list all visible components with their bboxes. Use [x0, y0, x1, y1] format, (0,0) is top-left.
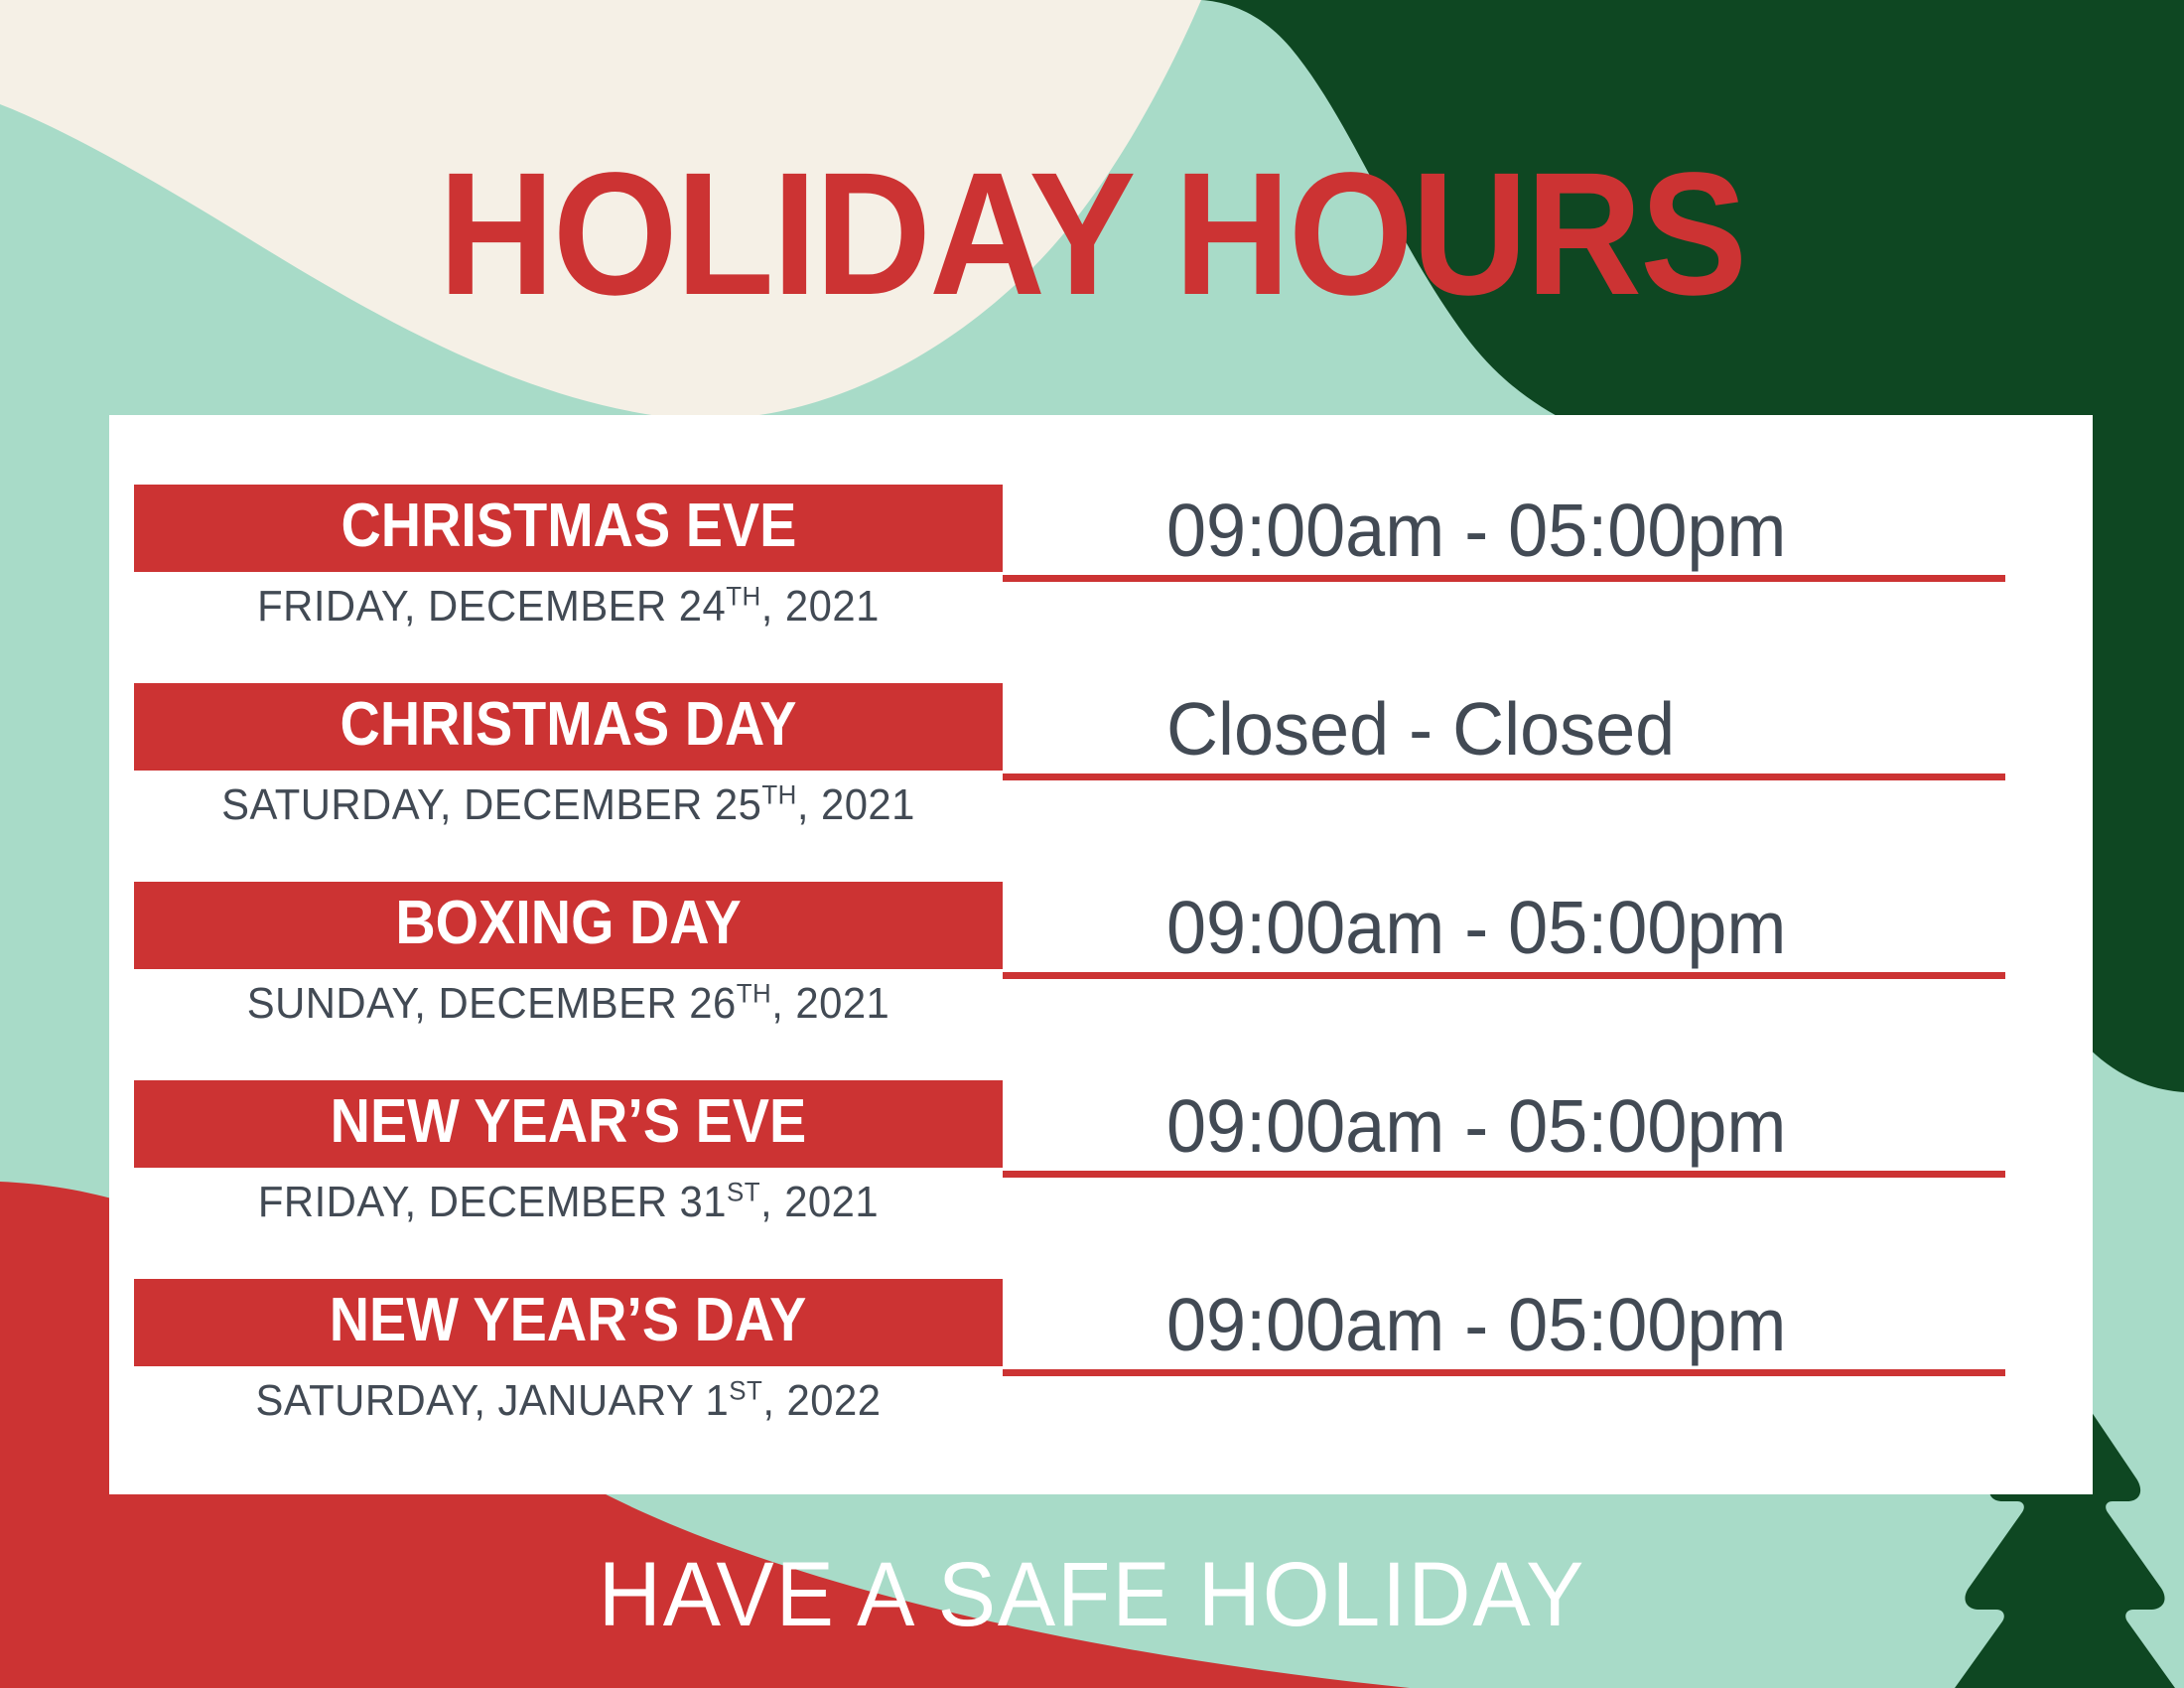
- holiday-name-bar: NEW YEAR’S EVE: [134, 1080, 1003, 1168]
- holiday-hours: 09:00am - 05:00pm: [1166, 493, 1786, 568]
- schedule-row: NEW YEAR’S DAY SATURDAY, JANUARY 1ST, 20…: [109, 1267, 2093, 1466]
- holiday-date-prefix: SUNDAY, DECEMBER 26: [247, 979, 737, 1028]
- holiday-name: NEW YEAR’S EVE: [331, 1091, 807, 1153]
- holiday-name-bar: CHRISTMAS EVE: [134, 485, 1003, 572]
- holiday-date-ordinal: ST: [727, 1176, 760, 1206]
- holiday-hours-block: 09:00am - 05:00pm: [1003, 1267, 2005, 1376]
- holiday-name: CHRISTMAS EVE: [341, 495, 796, 557]
- holiday-hours-poster: HOLIDAY HOURS CHRISTMAS EVE FRIDAY, DECE…: [0, 0, 2184, 1688]
- page-title: HOLIDAY HOURS: [87, 147, 2097, 322]
- holiday-date-suffix: , 2021: [760, 1178, 879, 1226]
- holiday-date-ordinal: ST: [729, 1374, 762, 1405]
- holiday-date-suffix: , 2021: [797, 780, 915, 829]
- schedule-row: CHRISTMAS DAY SATURDAY, DECEMBER 25TH, 2…: [109, 671, 2093, 870]
- hours-underline: [1003, 1369, 2005, 1376]
- holiday-name-bar: NEW YEAR’S DAY: [134, 1279, 1003, 1366]
- holiday-date-suffix: , 2022: [762, 1376, 881, 1425]
- holiday-hours-block: 09:00am - 05:00pm: [1003, 870, 2005, 979]
- hours-underline: [1003, 1171, 2005, 1178]
- holiday-hours-block: Closed - Closed: [1003, 671, 2005, 780]
- schedule-row: NEW YEAR’S EVE FRIDAY, DECEMBER 31ST, 20…: [109, 1068, 2093, 1267]
- holiday-date-ordinal: TH: [726, 580, 760, 611]
- holiday-date: FRIDAY, DECEMBER 24TH, 2021: [156, 582, 981, 633]
- holiday-hours-block: 09:00am - 05:00pm: [1003, 473, 2005, 582]
- holiday-date-prefix: SATURDAY, DECEMBER 25: [221, 780, 761, 829]
- hours-underline: [1003, 575, 2005, 582]
- holiday-hours-block: 09:00am - 05:00pm: [1003, 1068, 2005, 1178]
- holiday-hours: 09:00am - 05:00pm: [1166, 891, 1786, 965]
- holiday-name-bar: BOXING DAY: [134, 882, 1003, 969]
- holiday-date-prefix: SATURDAY, JANUARY 1: [256, 1376, 730, 1425]
- holiday-hours: 09:00am - 05:00pm: [1166, 1288, 1786, 1362]
- holiday-date-ordinal: TH: [737, 977, 771, 1008]
- holiday-hours: Closed - Closed: [1166, 692, 1675, 767]
- hours-underline: [1003, 774, 2005, 780]
- holiday-date: SATURDAY, DECEMBER 25TH, 2021: [156, 780, 981, 831]
- holiday-date: FRIDAY, DECEMBER 31ST, 2021: [156, 1178, 981, 1228]
- holiday-date-suffix: , 2021: [771, 979, 889, 1028]
- schedule-row: BOXING DAY SUNDAY, DECEMBER 26TH, 2021 0…: [109, 870, 2093, 1068]
- holiday-date-prefix: FRIDAY, DECEMBER 31: [258, 1178, 727, 1226]
- holiday-hours: 09:00am - 05:00pm: [1166, 1089, 1786, 1164]
- holiday-date-prefix: FRIDAY, DECEMBER 24: [257, 582, 726, 631]
- footer-message: HAVE A SAFE HOLIDAY: [55, 1549, 2129, 1640]
- holiday-name-bar: CHRISTMAS DAY: [134, 683, 1003, 771]
- schedule-row: CHRISTMAS EVE FRIDAY, DECEMBER 24TH, 202…: [109, 473, 2093, 671]
- holiday-date: SATURDAY, JANUARY 1ST, 2022: [156, 1376, 981, 1427]
- holiday-name: CHRISTMAS DAY: [341, 694, 797, 756]
- schedule-rows: CHRISTMAS EVE FRIDAY, DECEMBER 24TH, 202…: [109, 415, 2093, 1494]
- schedule-card: CHRISTMAS EVE FRIDAY, DECEMBER 24TH, 202…: [109, 415, 2093, 1494]
- hours-underline: [1003, 972, 2005, 979]
- holiday-date: SUNDAY, DECEMBER 26TH, 2021: [156, 979, 981, 1030]
- holiday-date-ordinal: TH: [761, 778, 796, 809]
- holiday-date-suffix: , 2021: [761, 582, 880, 631]
- holiday-name: NEW YEAR’S DAY: [330, 1290, 807, 1351]
- holiday-name: BOXING DAY: [395, 893, 741, 954]
